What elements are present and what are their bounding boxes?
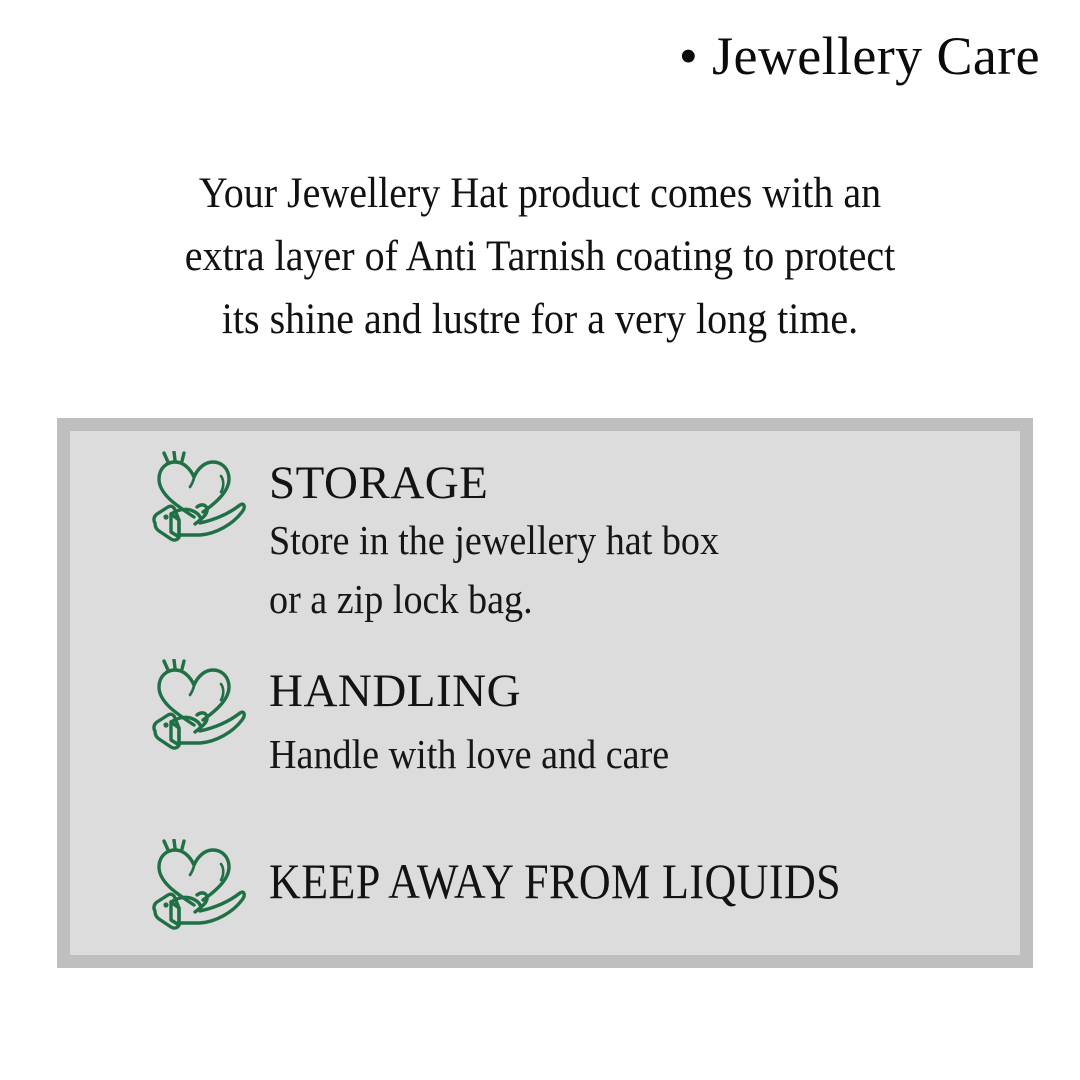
page-title-row: • Jewellery Care — [0, 28, 1040, 85]
care-body-handling: Handle with love and care — [269, 725, 669, 784]
intro-line-3: its shine and lustre for a very long tim… — [112, 288, 968, 351]
care-body-line-2: or a zip lock bag. — [269, 570, 719, 629]
care-heading-keep-away-from-liquids: KEEP AWAY FROM LIQUIDS — [269, 855, 841, 907]
page-title: • Jewellery Care — [679, 28, 1040, 85]
care-instructions-list: STORAGE Store in the jewellery hat box o… — [70, 431, 1020, 955]
intro-line-1: Your Jewellery Hat product comes with an — [112, 162, 968, 225]
care-item-text: STORAGE Store in the jewellery hat box o… — [269, 451, 753, 629]
care-item-handling: HANDLING Handle with love and care — [145, 659, 699, 784]
care-heading-handling: HANDLING — [269, 665, 699, 717]
care-item-text: KEEP AWAY FROM LIQUIDS — [269, 839, 919, 907]
care-item-text: HANDLING Handle with love and care — [269, 659, 699, 784]
heart-in-hand-icon — [145, 451, 249, 555]
jewellery-care-page: • Jewellery Care Your Jewellery Hat prod… — [0, 0, 1080, 1080]
care-body-line-1: Store in the jewellery hat box — [269, 511, 719, 570]
intro-paragraph: Your Jewellery Hat product comes with an… — [112, 162, 968, 351]
care-body-storage: Store in the jewellery hat box or a zip … — [269, 511, 719, 629]
intro-line-2: extra layer of Anti Tarnish coating to p… — [112, 225, 968, 288]
care-heading-storage: STORAGE — [269, 457, 753, 509]
care-item-storage: STORAGE Store in the jewellery hat box o… — [145, 451, 753, 629]
care-item-keep-away-from-liquids: KEEP AWAY FROM LIQUIDS — [145, 839, 919, 943]
heart-in-hand-icon — [145, 839, 249, 943]
heart-in-hand-icon — [145, 659, 249, 763]
care-body-line-1: Handle with love and care — [269, 725, 669, 784]
care-instructions-box: STORAGE Store in the jewellery hat box o… — [57, 418, 1033, 968]
